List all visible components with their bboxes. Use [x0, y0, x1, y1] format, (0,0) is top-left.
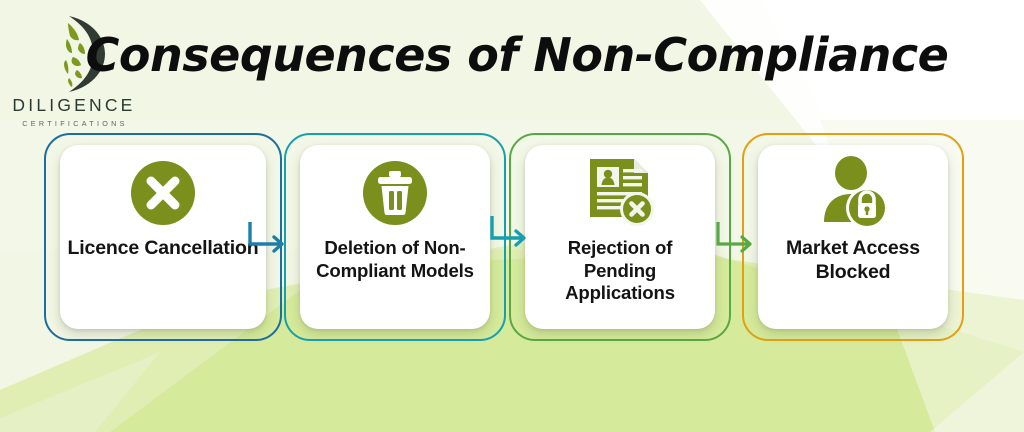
flow-card-label: Deletion of Non-Compliant Models	[300, 237, 490, 282]
flow-card-body: Deletion of Non-Compliant Models	[300, 145, 490, 329]
flow-card-label: Rejection of Pending Applications	[525, 237, 715, 305]
flow-card-market-access-blocked[interactable]: Market Access Blocked	[742, 133, 964, 341]
page-title: Consequences of Non-Compliance	[122, 22, 912, 88]
circle-x-icon	[127, 155, 199, 231]
flow-card-licence-cancellation[interactable]: Licence Cancellation	[44, 133, 282, 341]
trash-can-icon	[359, 155, 431, 231]
connector-arrow-3	[716, 218, 758, 262]
flow-card-rejection-of-pending-applications[interactable]: Rejection of Pending Applications	[509, 133, 731, 341]
flow-card-label: Licence Cancellation	[62, 237, 265, 261]
connector-arrow-2	[490, 212, 532, 256]
user-locked-icon	[815, 155, 891, 231]
brand-subtitle: CERTIFICATIONS	[20, 120, 127, 127]
brand-name: DILIGENCE	[12, 97, 135, 115]
flow-card-label: Market Access Blocked	[758, 237, 948, 285]
flow-card-body: Licence Cancellation	[60, 145, 266, 329]
document-rejected-icon	[582, 155, 658, 231]
connector-arrow-1	[248, 218, 290, 262]
flow-card-body: Market Access Blocked	[758, 145, 948, 329]
flow-card-body: Rejection of Pending Applications	[525, 145, 715, 329]
flow-card-deletion-of-non-compliant-models[interactable]: Deletion of Non-Compliant Models	[284, 133, 506, 341]
